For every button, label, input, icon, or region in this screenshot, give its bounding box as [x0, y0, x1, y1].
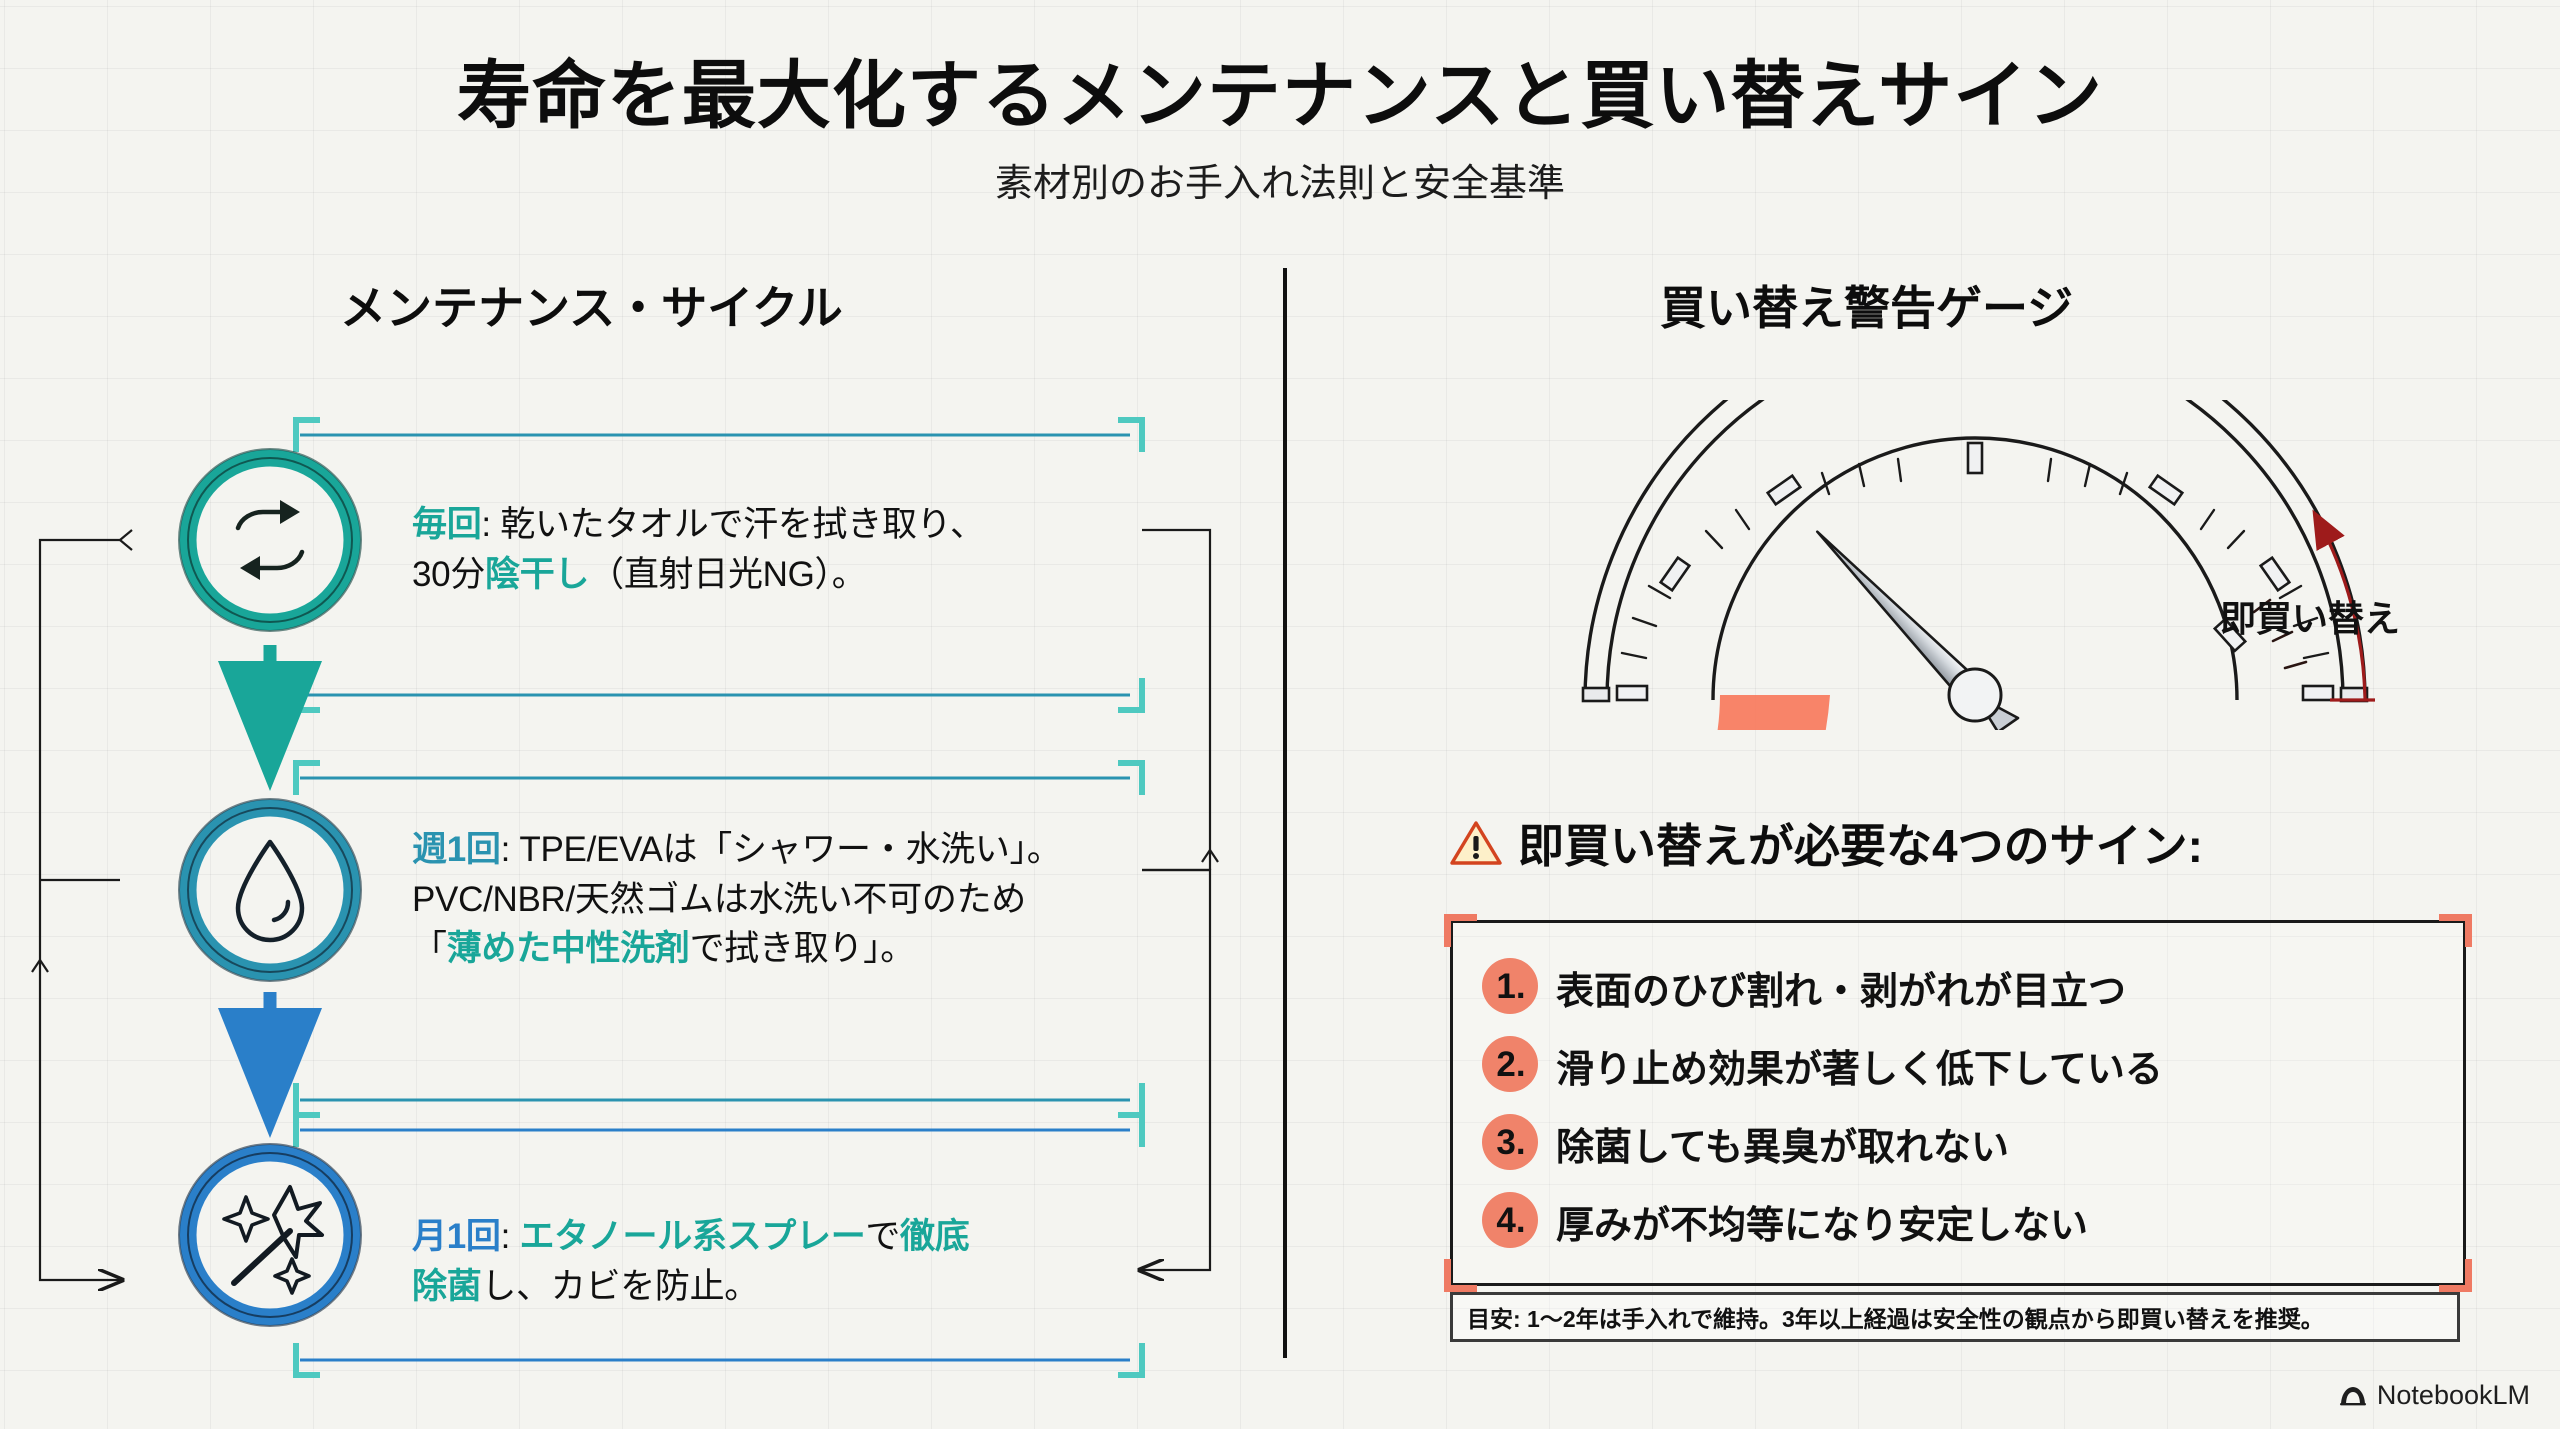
corner-top-left — [1444, 914, 1477, 947]
warning-heading-text: 即買い替えが必要な4つのサイン: — [1518, 810, 2203, 876]
step-text-every-use: 毎回: 乾いたタオルで汗を拭き取り、30分陰干し（直射日光NG）。 — [412, 500, 1142, 599]
list-item-number: 4. — [1480, 1190, 1542, 1252]
list-item-label: 除菌しても異臭が取れない — [1556, 1116, 2009, 1171]
column-divider — [1283, 268, 1287, 1358]
magic-wand-sparkle-icon — [170, 1135, 370, 1335]
list-item: 1. 表面のひび割れ・剥がれが目立つ — [1480, 948, 2440, 1026]
step-text-monthly: 月1回: エタノール系スプレーで徹底除菌し、カビを防止。 — [412, 1212, 1142, 1311]
page-title: 寿命を最大化するメンテナンスと買い替えサイン — [0, 36, 2560, 143]
list-item-label: 厚みが不均等になり安定しない — [1556, 1194, 2088, 1249]
corner-top-right — [2439, 914, 2472, 947]
left-column-title: メンテナンス・サイクル — [340, 272, 843, 338]
notebooklm-logo-icon — [2338, 1384, 2368, 1408]
corner-bottom-left — [1444, 1259, 1477, 1292]
list-item-number: 2. — [1480, 1034, 1542, 1096]
notebooklm-watermark: NotebookLM — [2338, 1380, 2530, 1411]
step-text-weekly: 週1回: TPE/EVAは「シャワー・水洗い」。PVC/NBR/天然ゴムは水洗い… — [412, 825, 1172, 974]
list-item: 4. 厚みが不均等になり安定しない — [1480, 1182, 2440, 1260]
list-item-number: 3. — [1480, 1112, 1542, 1174]
warning-heading: 即買い替えが必要な4つのサイン: — [1450, 810, 2203, 876]
warning-triangle-icon — [1450, 819, 1502, 867]
step-icon-water-drop — [170, 790, 370, 990]
infographic-page: 寿命を最大化するメンテナンスと買い替えサイン 素材別のお手入れ法則と安全基準 メ… — [0, 0, 2560, 1429]
step-icon-cycle — [170, 440, 370, 640]
page-subtitle: 素材別のお手入れ法則と安全基準 — [0, 152, 2560, 207]
cycle-refresh-icon — [170, 440, 370, 640]
footnote-text: 目安: 1〜2年は手入れで維持。3年以上経過は安全性の観点から即買い替えを推奨。 — [1467, 1300, 2324, 1334]
list-item: 2. 滑り止め効果が著しく低下している — [1480, 1026, 2440, 1104]
list-item: 3. 除菌しても異臭が取れない — [1480, 1104, 2440, 1182]
gauge-danger-label: 即買い替え — [2220, 590, 2400, 642]
water-drop-icon — [170, 790, 370, 990]
gauge-svg — [1470, 400, 2480, 730]
list-item-label: 表面のひび割れ・剥がれが目立つ — [1556, 960, 2126, 1015]
step-icon-magic-wand — [170, 1135, 370, 1335]
corner-bottom-right — [2439, 1259, 2472, 1292]
list-item-number: 1. — [1480, 956, 1542, 1018]
watermark-label: NotebookLM — [2377, 1380, 2530, 1411]
right-column-title: 買い替え警告ゲージ — [1660, 272, 2073, 338]
warning-signs-list: 1. 表面のひび割れ・剥がれが目立つ 2. 滑り止め効果が著しく低下している 3… — [1480, 948, 2440, 1260]
footnote-box: 目安: 1〜2年は手入れで維持。3年以上経過は安全性の観点から即買い替えを推奨。 — [1450, 1292, 2460, 1342]
maintenance-cycle-flow: 毎回: 乾いたタオルで汗を拭き取り、30分陰干し（直射日光NG）。 週1回: T… — [0, 400, 1270, 1380]
replacement-warning-gauge — [1470, 400, 2480, 730]
list-item-label: 滑り止め効果が著しく低下している — [1556, 1038, 2163, 1093]
